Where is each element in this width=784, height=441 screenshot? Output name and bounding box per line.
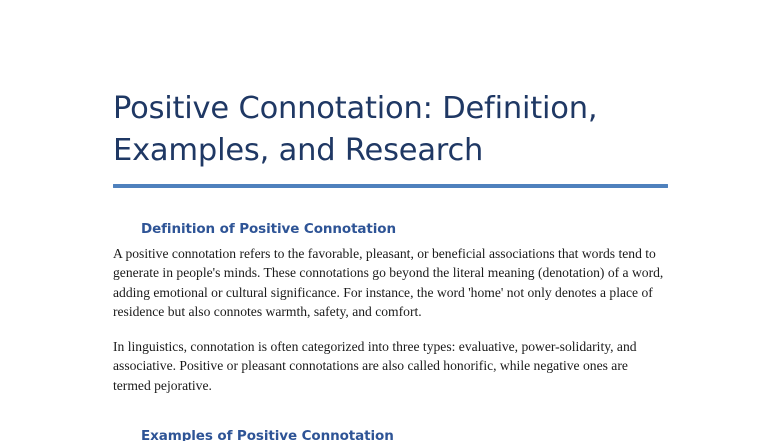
paragraph-definition-2: In linguistics, connotation is often cat… (113, 321, 668, 395)
paragraph-definition-1: A positive connotation refers to the fav… (113, 237, 668, 321)
section-heading-examples: Examples of Positive Connotation (113, 395, 668, 441)
document-content: Positive Connotation: Definition, Exampl… (113, 0, 668, 441)
page-title: Positive Connotation: Definition, Exampl… (113, 0, 668, 172)
section-heading-definition: Definition of Positive Connotation (113, 188, 668, 237)
document-page: Positive Connotation: Definition, Exampl… (0, 0, 784, 441)
